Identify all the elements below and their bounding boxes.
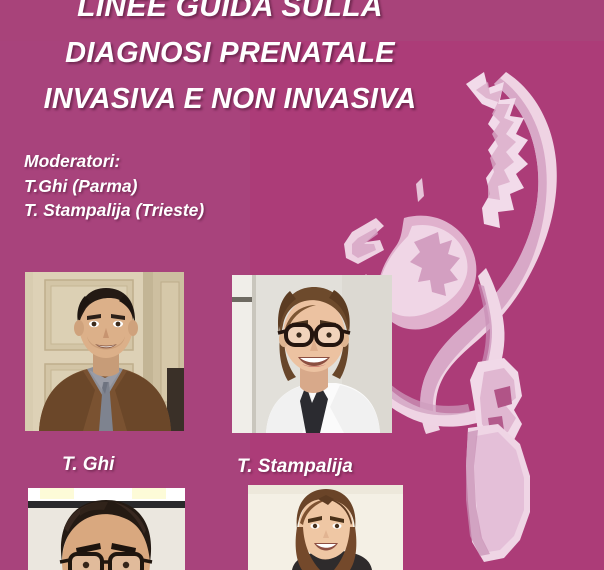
slide-title: LINEE GUIDA SULLA DIAGNOSI PRENATALE INV…: [0, 0, 460, 122]
moderator-name-2: T. Stampalija (Trieste): [24, 198, 204, 223]
caption-ghi: T. Ghi: [62, 454, 114, 476]
presentation-slide: LINEE GUIDA SULLA DIAGNOSI PRENATALE INV…: [0, 0, 604, 570]
title-line-3: INVASIVA E NON INVASIVA: [0, 76, 460, 122]
moderator-name-1: T.Ghi (Parma): [24, 174, 204, 199]
title-line-2: DIAGNOSI PRENATALE: [0, 30, 460, 76]
portrait-image-fourth-speaker: [248, 485, 403, 570]
photo-third-speaker: [28, 488, 185, 570]
moderators-heading: Moderatori:: [24, 149, 204, 174]
portrait-image-ghi: [25, 272, 184, 431]
portrait-image-stampalija: [232, 275, 392, 433]
photo-ghi: [25, 272, 184, 431]
portrait-image-third-speaker: [28, 488, 185, 570]
title-line-1: LINEE GUIDA SULLA: [0, 0, 460, 30]
moderators-block: Moderatori: T.Ghi (Parma) T. Stampalija …: [24, 149, 204, 223]
caption-stampalija: T. Stampalija: [237, 456, 353, 478]
photo-stampalija: [232, 275, 392, 433]
photo-fourth-speaker: [248, 485, 403, 570]
